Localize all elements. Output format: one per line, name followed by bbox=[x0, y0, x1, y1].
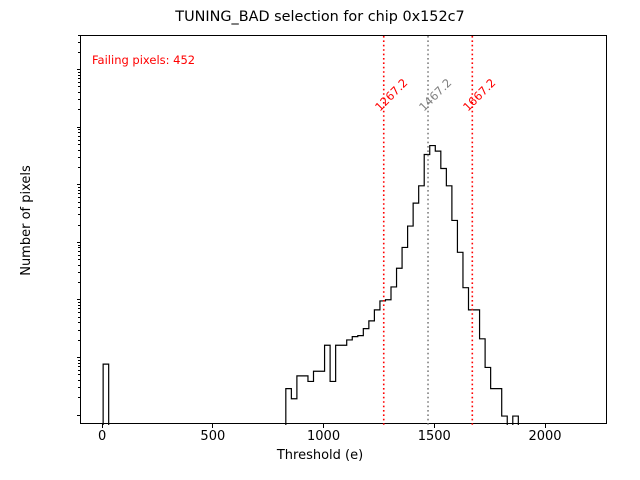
ytick-minor-mark bbox=[78, 245, 80, 246]
ytick-minor-mark bbox=[78, 187, 80, 188]
ytick-minor-mark bbox=[78, 82, 80, 83]
ytick-minor-mark bbox=[78, 282, 80, 283]
ytick-minor-mark bbox=[78, 225, 80, 226]
histogram-plot bbox=[81, 36, 608, 425]
ytick-mark-1e0 bbox=[77, 415, 81, 416]
ytick-minor-mark bbox=[78, 302, 80, 303]
xtick-label-1000: 1000 bbox=[307, 429, 340, 444]
ytick-minor-mark bbox=[78, 157, 80, 158]
xtick-mark-500 bbox=[212, 424, 213, 428]
ytick-minor-mark bbox=[78, 317, 80, 318]
ytick-minor-mark bbox=[78, 35, 80, 36]
ytick-minor-mark bbox=[78, 363, 80, 364]
xtick-mark-0 bbox=[102, 424, 103, 428]
ytick-minor-mark bbox=[78, 247, 80, 248]
ytick-minor-mark bbox=[78, 272, 80, 273]
xtick-label-0: 0 bbox=[98, 429, 106, 444]
ytick-minor-mark bbox=[78, 197, 80, 198]
ytick-mark-1e2 bbox=[77, 299, 81, 300]
xtick-mark-1000 bbox=[323, 424, 324, 428]
ytick-minor-mark bbox=[78, 322, 80, 323]
ytick-minor-mark bbox=[78, 397, 80, 398]
ytick-minor-mark bbox=[78, 109, 80, 110]
ytick-minor-mark bbox=[78, 308, 80, 309]
ytick-minor-mark bbox=[78, 360, 80, 361]
ytick-minor-mark bbox=[78, 92, 80, 93]
xtick-label-1500: 1500 bbox=[418, 429, 451, 444]
ytick-minor-mark bbox=[78, 370, 80, 371]
ytick-minor-mark bbox=[78, 312, 80, 313]
ytick-minor-mark bbox=[78, 202, 80, 203]
ytick-minor-mark bbox=[78, 86, 80, 87]
ytick-mark-1e3 bbox=[77, 242, 81, 243]
ytick-minor-mark bbox=[78, 380, 80, 381]
xtick-mark-1500 bbox=[434, 424, 435, 428]
ytick-minor-mark bbox=[78, 140, 80, 141]
ytick-minor-mark bbox=[78, 387, 80, 388]
ytick-mark-1e4 bbox=[77, 184, 81, 185]
ytick-minor-mark bbox=[78, 72, 80, 73]
ytick-minor-mark bbox=[78, 366, 80, 367]
ytick-minor-mark bbox=[78, 265, 80, 266]
ytick-minor-mark bbox=[78, 330, 80, 331]
ytick-minor-mark bbox=[78, 340, 80, 341]
ytick-minor-mark bbox=[78, 132, 80, 133]
figure-canvas: TUNING_BAD selection for chip 0x152c7 Fa… bbox=[0, 0, 640, 480]
y-axis-label: Number of pixels bbox=[19, 26, 34, 415]
ytick-minor-mark bbox=[78, 190, 80, 191]
plot-area: Failing pixels: 452 bbox=[80, 35, 607, 424]
histogram-outline bbox=[103, 146, 518, 425]
histogram-step-path bbox=[103, 146, 518, 425]
ytick-minor-mark bbox=[78, 75, 80, 76]
xtick-mark-2000 bbox=[545, 424, 546, 428]
ytick-minor-mark bbox=[78, 52, 80, 53]
ytick-minor-mark bbox=[78, 42, 80, 43]
ytick-mark-1e6 bbox=[77, 69, 81, 70]
ytick-minor-mark bbox=[78, 78, 80, 79]
ytick-minor-mark bbox=[78, 193, 80, 194]
ytick-minor-mark bbox=[78, 374, 80, 375]
xtick-label-500: 500 bbox=[200, 429, 225, 444]
ytick-minor-mark bbox=[78, 99, 80, 100]
xtick-label-2000: 2000 bbox=[528, 429, 561, 444]
ytick-minor-mark bbox=[78, 214, 80, 215]
x-axis-label: Threshold (e) bbox=[0, 448, 640, 463]
ytick-minor-mark bbox=[78, 255, 80, 256]
ytick-minor-mark bbox=[78, 207, 80, 208]
ytick-minor-mark bbox=[78, 150, 80, 151]
ytick-mark-1e1 bbox=[77, 357, 81, 358]
ytick-minor-mark bbox=[78, 251, 80, 252]
ytick-minor-mark bbox=[78, 129, 80, 130]
ytick-minor-mark bbox=[78, 144, 80, 145]
page-title: TUNING_BAD selection for chip 0x152c7 bbox=[0, 9, 640, 25]
ytick-minor-mark bbox=[78, 259, 80, 260]
ytick-minor-mark bbox=[78, 136, 80, 137]
ytick-minor-mark bbox=[78, 305, 80, 306]
ytick-mark-1e5 bbox=[77, 127, 81, 128]
ytick-minor-mark bbox=[78, 167, 80, 168]
